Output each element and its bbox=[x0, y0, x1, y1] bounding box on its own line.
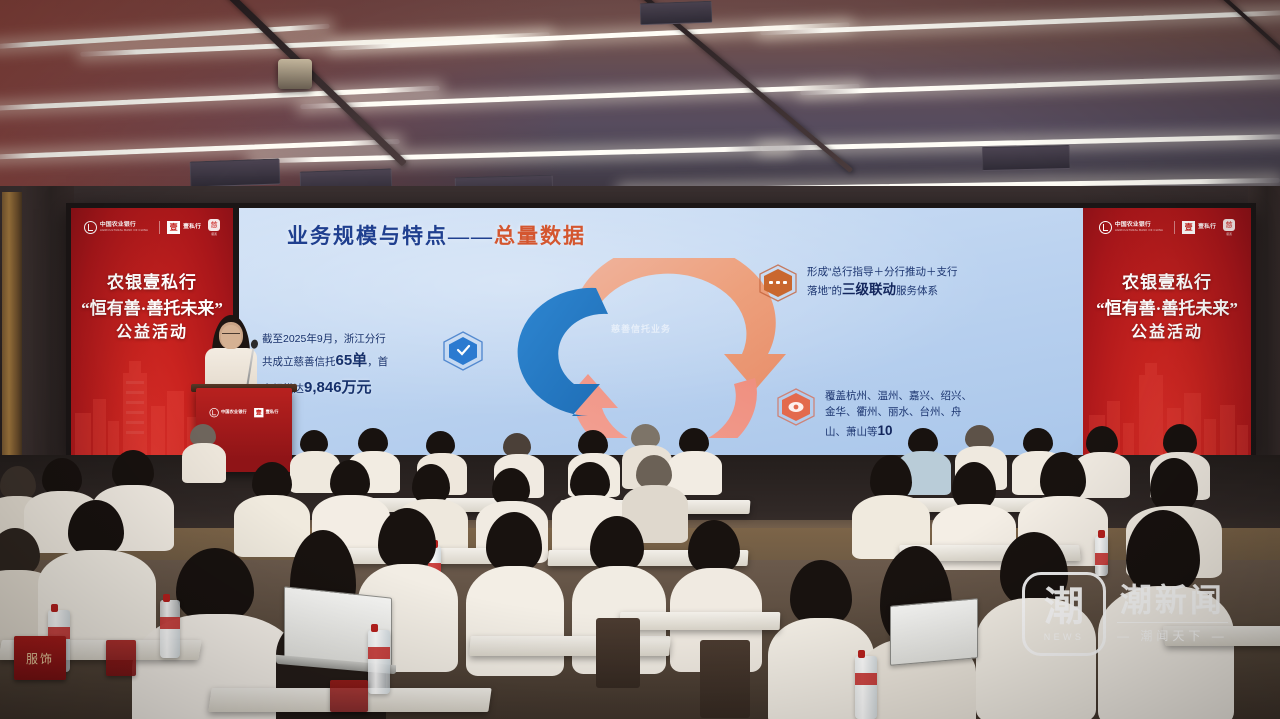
ceiling-vent bbox=[190, 158, 281, 187]
charity-logo-text: 慈善 bbox=[1226, 232, 1232, 236]
audience-desk bbox=[1163, 626, 1280, 646]
banner-line-2: “恒有善·善托未来” bbox=[1083, 296, 1251, 322]
water-bottle bbox=[368, 630, 390, 694]
charity-logo: 慈 慈善 bbox=[1223, 219, 1235, 236]
callout-bottom-line-1: 覆盖杭州、温州、嘉兴、绍兴、 bbox=[825, 388, 972, 404]
screenshot-root: 中国农业银行 AGRICULTURAL BANK OF CHINA 壹 壹私行 … bbox=[0, 0, 1280, 719]
abc-bank-en: AGRICULTURAL BANK OF CHINA bbox=[1115, 229, 1163, 233]
chair-back bbox=[596, 618, 640, 688]
banner-line-3: 公益活动 bbox=[71, 321, 233, 345]
laptop-screen bbox=[890, 598, 978, 666]
cycle-diagram bbox=[500, 258, 790, 438]
private-bank-mark-icon: 壹 bbox=[167, 221, 180, 234]
table-nameplate bbox=[106, 640, 136, 676]
private-bank-mark-icon: 壹 bbox=[254, 408, 263, 417]
podium-private-logo: 壹 壹私行 bbox=[254, 408, 278, 417]
callout-bottom-text: 覆盖杭州、温州、嘉兴、绍兴、 金华、衢州、丽水、台州、舟 山、萧山等10 bbox=[825, 388, 972, 441]
person-hair bbox=[412, 464, 450, 504]
charity-logo-text: 慈善 bbox=[211, 232, 217, 236]
hexagon-target-icon bbox=[775, 388, 817, 426]
private-bank-logo-text: 壹私行 bbox=[183, 224, 201, 231]
private-bank-logo-text: 壹私行 bbox=[1198, 224, 1216, 231]
callout-bottom-l3-pre: 山、萧山等 bbox=[825, 426, 878, 438]
abc-bank-en: AGRICULTURAL BANK OF CHINA bbox=[100, 229, 148, 233]
callout-top-l2-num: 三级联动 bbox=[842, 282, 896, 297]
left-text-l2-post: ，首 bbox=[367, 356, 388, 368]
person-body bbox=[466, 566, 564, 676]
left-text-l3-num: 9,846万元 bbox=[304, 379, 372, 396]
private-bank-cn: 壹私行 bbox=[1198, 224, 1216, 231]
left-text-l2-pre: 共成立慈善信托 bbox=[262, 356, 336, 368]
ceiling-vent bbox=[982, 145, 1071, 171]
hexagon-dots-icon bbox=[757, 264, 799, 302]
person-body bbox=[1098, 586, 1234, 719]
callout-top-line-2: 落地”的三级联动服务体系 bbox=[807, 280, 958, 301]
audience-desk bbox=[469, 636, 670, 656]
abc-bank-mark-icon bbox=[209, 408, 218, 417]
abc-bank-mark-icon bbox=[84, 221, 97, 234]
water-bottle bbox=[160, 600, 180, 658]
banner-line-3: 公益活动 bbox=[1083, 321, 1251, 345]
ceiling bbox=[0, 0, 1280, 200]
slide-title-dash: —— bbox=[448, 224, 494, 248]
charity-logo: 慈 慈善 bbox=[208, 219, 220, 236]
banner-logo-row: 中国农业银行 AGRICULTURAL BANK OF CHINA 壹 壹私行 … bbox=[71, 219, 233, 236]
podium-private-cn: 壹私行 bbox=[266, 410, 279, 415]
cycle-arc-salmon bbox=[558, 374, 757, 438]
banner-title-left: 农银壹私行 “恒有善·善托未来” 公益活动 bbox=[71, 270, 233, 345]
banner-line-1: 农银壹私行 bbox=[1083, 270, 1251, 296]
callout-top-l2-pre: 落地”的 bbox=[807, 285, 842, 297]
charity-mark-icon: 慈 bbox=[208, 219, 220, 231]
abc-bank-logo: 中国农业银行 AGRICULTURAL BANK OF CHINA bbox=[84, 221, 152, 234]
podium-abc-cn: 中国农业银行 bbox=[221, 410, 247, 415]
person-hair bbox=[0, 466, 36, 500]
podium-abc-logo-text: 中国农业银行 bbox=[221, 410, 247, 415]
person-hair bbox=[112, 450, 154, 490]
banner-logo-row: 中国农业银行 AGRICULTURAL BANK OF CHINA 壹 壹私行 … bbox=[1083, 219, 1251, 236]
ceiling-speaker bbox=[278, 59, 312, 89]
audience-desk bbox=[620, 612, 781, 630]
callout-bottom-line-2: 金华、衢州、丽水、台州、舟 bbox=[825, 404, 972, 420]
left-text-line-1: 截至2025年9月，浙江分行 bbox=[262, 330, 452, 348]
water-bottle bbox=[855, 656, 877, 719]
podium-logo-row: 中国农业银行 壹 壹私行 bbox=[209, 408, 278, 417]
callout-bottom-l3-num: 10 bbox=[878, 423, 893, 438]
logo-divider bbox=[159, 221, 160, 234]
slide-title-accent: 总量数据 bbox=[494, 224, 586, 248]
callout-top-line-1: 形成“总行指导＋分行推动＋支行 bbox=[807, 264, 958, 280]
slide-title: 业务规模与特点——总量数据 bbox=[287, 220, 586, 250]
abc-bank-logo: 中国农业银行 AGRICULTURAL BANK OF CHINA bbox=[1099, 221, 1167, 234]
person-body bbox=[976, 598, 1096, 719]
speaker-glasses bbox=[222, 333, 240, 338]
slide-callout-bottom: 覆盖杭州、温州、嘉兴、绍兴、 金华、衢州、丽水、台州、舟 山、萧山等10 bbox=[775, 388, 972, 441]
wall-wood-trim bbox=[2, 192, 22, 492]
logo-divider bbox=[1174, 221, 1175, 234]
table-nameplate: 服饰 bbox=[14, 636, 66, 680]
abc-bank-mark-icon bbox=[1099, 221, 1112, 234]
abc-bank-logo-text: 中国农业银行 AGRICULTURAL BANK OF CHINA bbox=[1115, 222, 1167, 233]
nameplate-text: 服饰 bbox=[26, 650, 54, 667]
person-hair bbox=[330, 460, 370, 500]
banner-line-1: 农银壹私行 bbox=[71, 270, 233, 296]
chair-back bbox=[700, 640, 750, 718]
podium-private-logo-text: 壹私行 bbox=[266, 410, 279, 415]
callout-top-text: 形成“总行指导＋分行推动＋支行 落地”的三级联动服务体系 bbox=[807, 264, 958, 301]
shield-hexagon-icon bbox=[440, 330, 486, 372]
left-text-line-2: 共成立慈善信托65单，首 bbox=[262, 348, 452, 374]
private-bank-mark-icon: 壹 bbox=[1182, 221, 1195, 234]
cycle-center-text: 慈善信托业务 bbox=[556, 322, 726, 337]
banner-title-right: 农银壹私行 “恒有善·善托未来” 公益活动 bbox=[1083, 270, 1251, 345]
slide-callout-top: 形成“总行指导＋分行推动＋支行 落地”的三级联动服务体系 bbox=[757, 264, 958, 302]
private-bank-cn: 壹私行 bbox=[183, 224, 201, 231]
abc-bank-logo-text: 中国农业银行 AGRICULTURAL BANK OF CHINA bbox=[100, 222, 152, 233]
banner-line-2: “恒有善·善托未来” bbox=[71, 296, 233, 322]
private-bank-logo: 壹 壹私行 bbox=[1182, 221, 1216, 234]
callout-bottom-line-3: 山、萧山等10 bbox=[825, 421, 972, 442]
ceiling-vent bbox=[640, 1, 713, 25]
event-banner-right: 中国农业银行 AGRICULTURAL BANK OF CHINA 壹 壹私行 … bbox=[1083, 208, 1251, 456]
private-bank-logo: 壹 壹私行 bbox=[167, 221, 201, 234]
callout-top-l2-post: 服务体系 bbox=[896, 285, 938, 297]
table-nameplate bbox=[330, 680, 368, 712]
left-text-l2-num: 65单 bbox=[336, 352, 368, 369]
charity-mark-icon: 慈 bbox=[1223, 219, 1235, 231]
slide-title-main: 业务规模与特点 bbox=[287, 224, 448, 248]
podium-abc-logo: 中国农业银行 bbox=[209, 408, 246, 417]
person-hair bbox=[636, 455, 672, 489]
water-bottle bbox=[1095, 536, 1108, 576]
person-body bbox=[182, 443, 226, 483]
ceiling-light-strip bbox=[800, 74, 1280, 96]
